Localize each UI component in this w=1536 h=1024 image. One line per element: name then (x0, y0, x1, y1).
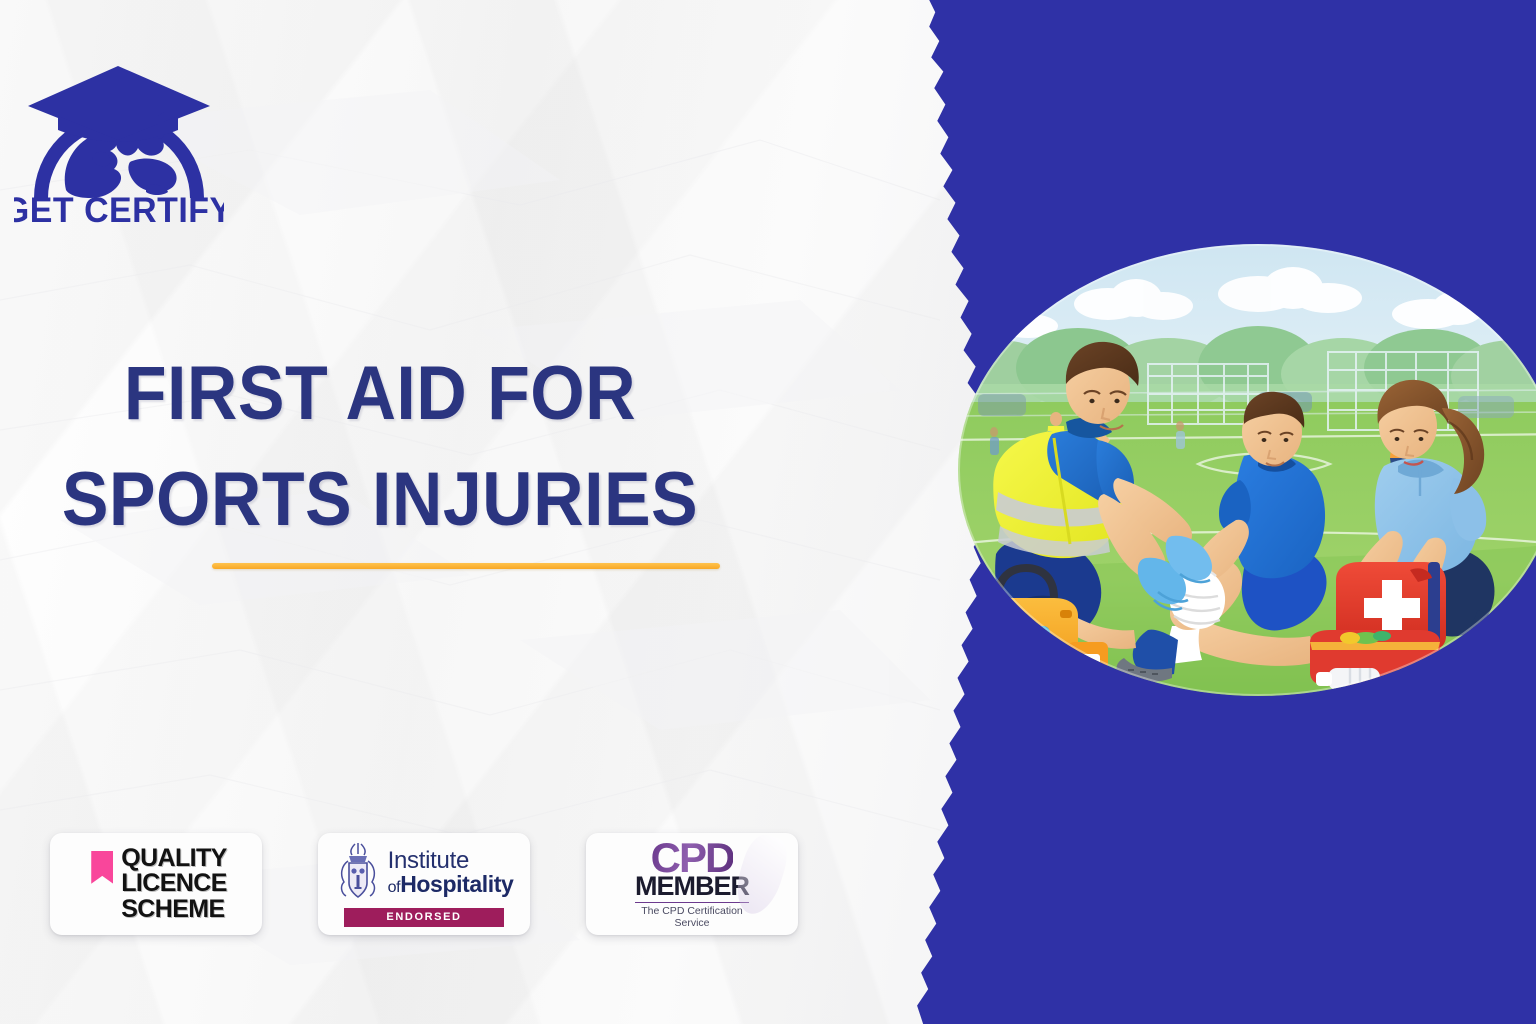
qls-line-2: LICENCE (121, 871, 227, 897)
headline-accent-rule (212, 563, 720, 569)
headline-block: FIRST AID FOR SPORTS INJURIES (0, 356, 940, 538)
headline-line-2: SPORTS INJURIES (30, 462, 729, 538)
cpd-subtitle-line-2: Service (641, 918, 743, 930)
accreditation-badges: QUALITY LICENCE SCHEME (50, 833, 798, 935)
cpd-member-label: MEMBER (635, 873, 749, 903)
institute-of-hospitality-crest (335, 841, 381, 903)
ioh-word-of: of (388, 879, 401, 896)
graduation-cap-globe-logo: GET CERTIFY (14, 38, 224, 228)
qls-line-1: QUALITY (121, 846, 227, 872)
sports-first-aid-illustration (958, 244, 1536, 696)
brand-logo[interactable]: GET CERTIFY (14, 38, 224, 228)
headline-line-1: FIRST AID FOR (30, 356, 729, 432)
badge-institute-of-hospitality[interactable]: Institute ofHospitality ENDORSED (318, 833, 530, 935)
brand-name-text: GET CERTIFY (14, 192, 224, 228)
ribbon-icon (91, 851, 113, 884)
illustration-container (958, 244, 1536, 696)
badge-cpd-member[interactable]: CPD MEMBER The CPD Certification Service (586, 833, 798, 935)
badge-quality-licence-scheme[interactable]: QUALITY LICENCE SCHEME (50, 833, 262, 935)
ioh-endorsed-banner: ENDORSED (344, 908, 504, 927)
qls-line-3: SCHEME (121, 897, 227, 923)
ioh-word-institute: Institute (388, 849, 514, 873)
course-banner: GET CERTIFY FIRST AID FOR SPORTS INJURIE… (0, 0, 1536, 1024)
ioh-word-hospitality: Hospitality (400, 871, 513, 897)
